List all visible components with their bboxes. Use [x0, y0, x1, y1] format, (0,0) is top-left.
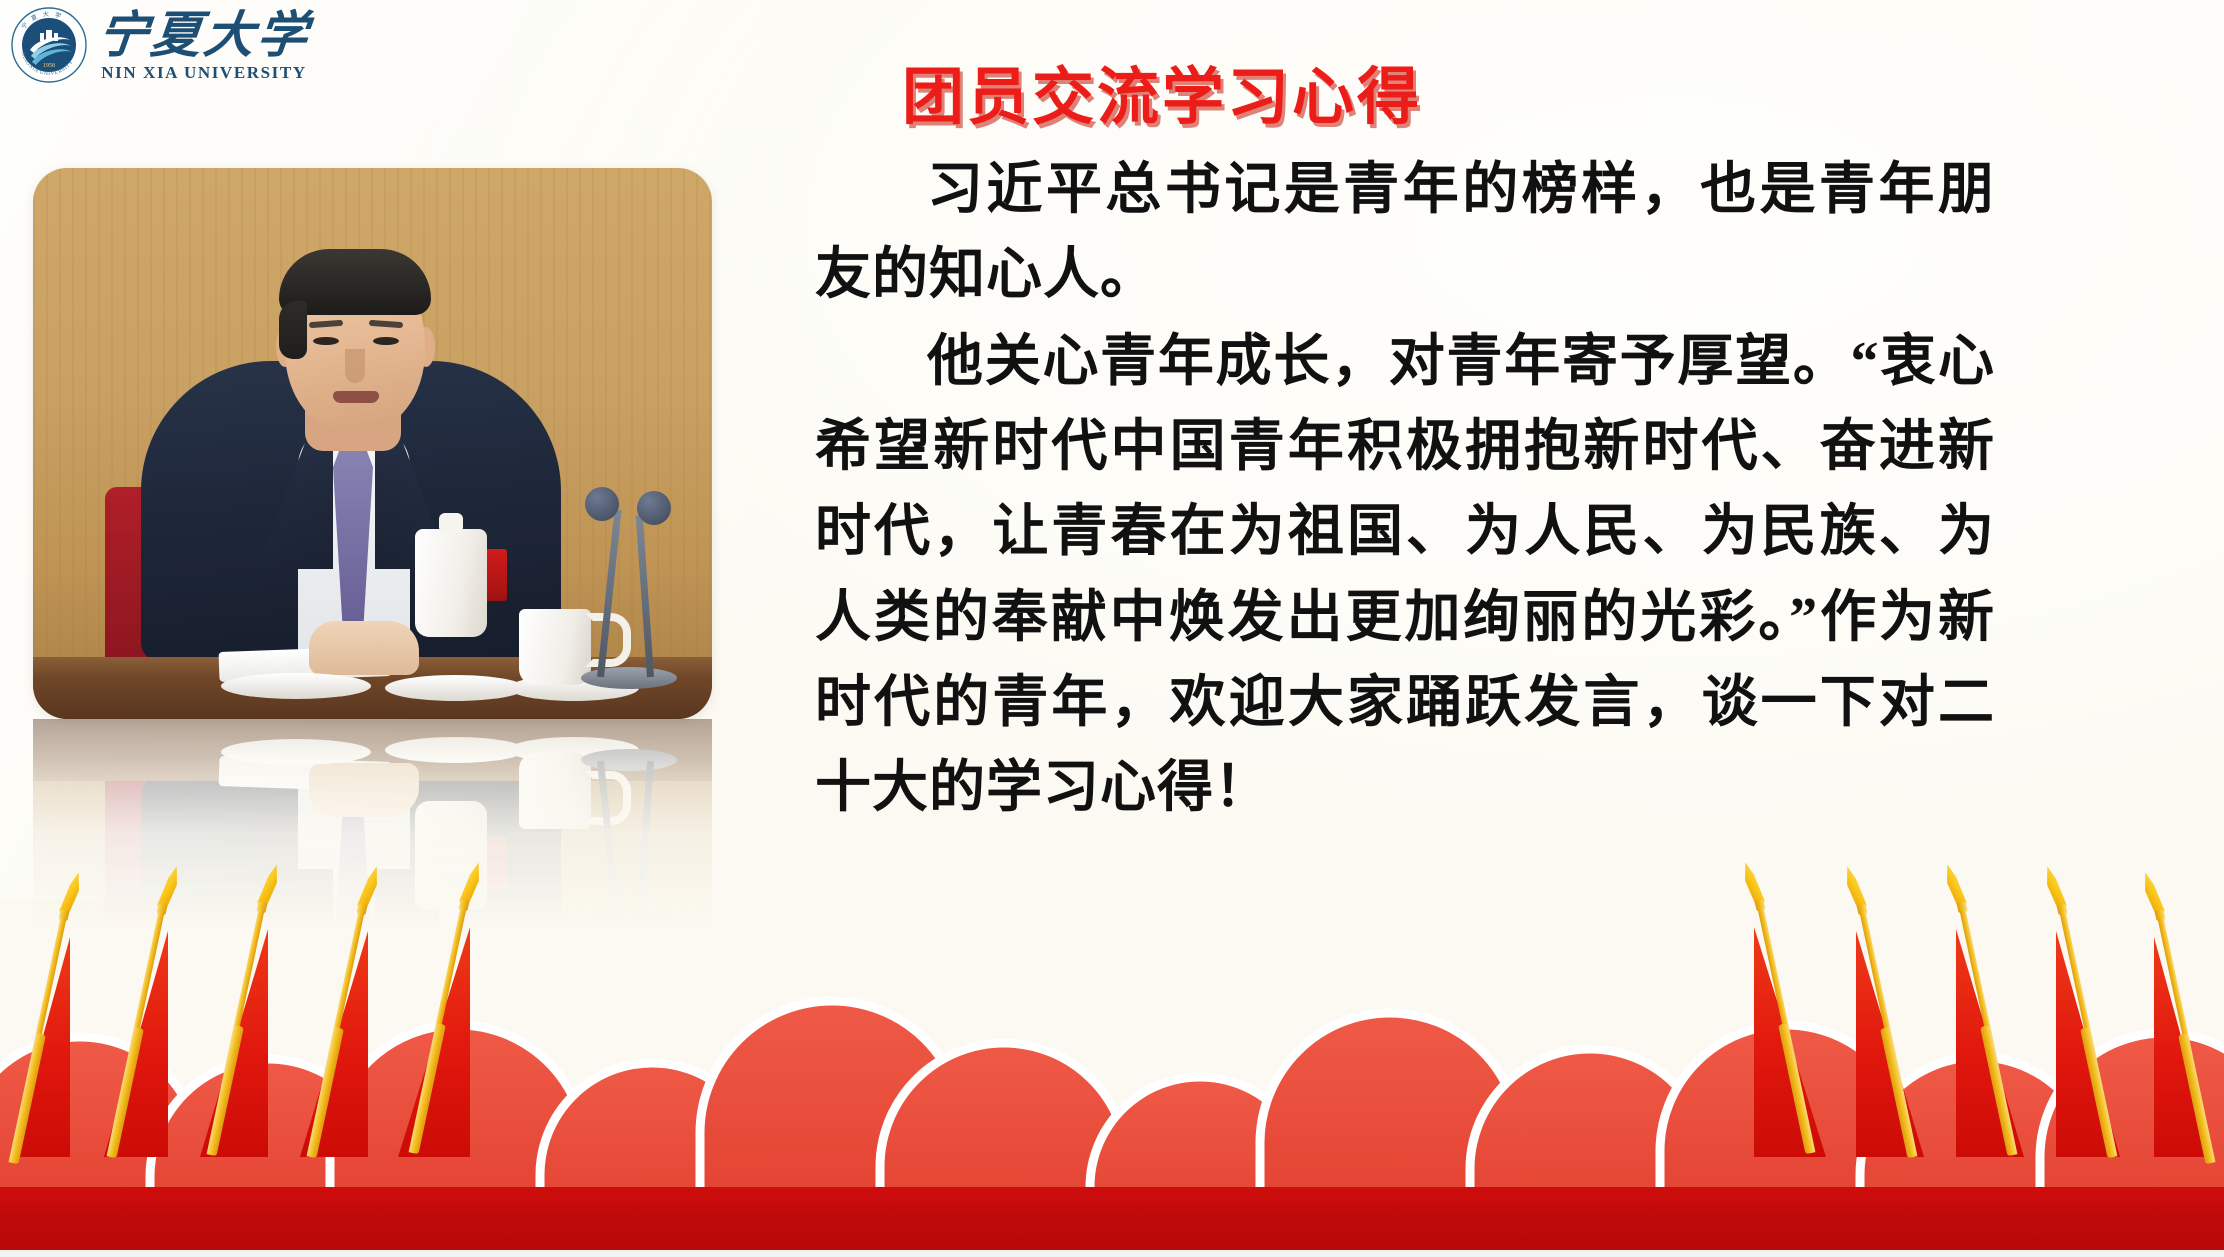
- bottom-edge-strip: [0, 1250, 2224, 1257]
- slide-title: 团员交流学习心得: [712, 46, 1612, 136]
- photo-mug-knob: [439, 513, 463, 533]
- photo-eye-right: [373, 337, 399, 345]
- university-name-cn: 宁夏大学: [95, 10, 312, 60]
- university-seal-icon: 1958 NINGXIA UNIVERSITY 宁 夏 大 学: [10, 6, 88, 84]
- leader-photo: [33, 168, 712, 719]
- photo-microphone-head-2: [637, 491, 671, 525]
- university-name-en: NIN XIA UNIVERSITY: [101, 64, 306, 81]
- photo-eye-left: [313, 337, 339, 345]
- bottom-red-bar: [0, 1187, 2224, 1250]
- photo-microphone-base: [581, 667, 677, 689]
- university-logo: 1958 NINGXIA UNIVERSITY 宁 夏 大 学 宁夏大学 NIN…: [10, 6, 310, 84]
- svg-text:1958: 1958: [43, 63, 55, 69]
- photo-teacup: [519, 609, 591, 685]
- university-wordmark: 宁夏大学 NIN XIA UNIVERSITY: [98, 10, 310, 81]
- photo-microphone-head-1: [585, 487, 619, 521]
- photo-red-badge: [485, 549, 507, 601]
- photo-saucer-left: [221, 673, 371, 699]
- photo-lidded-mug: [415, 529, 487, 637]
- photo-hair-side: [279, 301, 307, 359]
- photo-hands: [309, 621, 419, 675]
- photo-mouth: [333, 391, 379, 403]
- presentation-slide: 1958 NINGXIA UNIVERSITY 宁 夏 大 学 宁夏大学 NIN…: [0, 0, 2224, 1257]
- paragraph-2: 他关心青年成长，对青年寄予厚望。“衷心希望新时代中国青年积极拥抱新时代、奋进新时…: [815, 320, 1995, 831]
- paragraph-1: 习近平总书记是青年的榜样，也是青年朋友的知心人。: [815, 148, 1995, 318]
- photo-saucer-middle: [385, 675, 525, 701]
- leader-photo-block: [33, 168, 712, 719]
- body-text-block: 习近平总书记是青年的榜样，也是青年朋友的知心人。 他关心青年成长，对青年寄予厚望…: [815, 148, 1995, 833]
- leader-photo-reflection: [33, 719, 712, 929]
- photo-nose: [345, 349, 365, 383]
